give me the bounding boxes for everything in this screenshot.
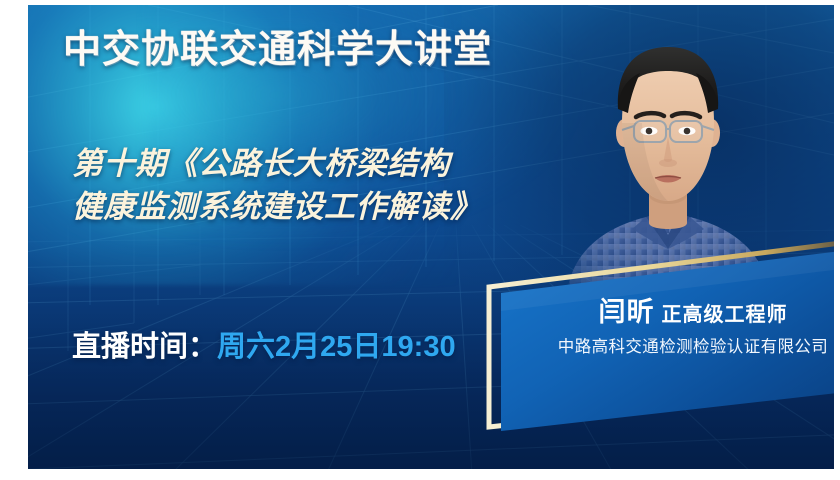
speaker-name: 闫昕 (599, 297, 655, 327)
speaker-name-row: 闫昕正高级工程师 (525, 299, 834, 326)
subtitle-line-1: 第十期《公路长大桥梁结构 (72, 146, 450, 181)
speaker-info: 闫昕正高级工程师 中路高科交通检测检验认证有限公司 (525, 299, 834, 356)
speaker-panel: 闫昕正高级工程师 中路高科交通检测检验认证有限公司 (483, 253, 834, 433)
live-time: 直播时间：周六2月25日19:30 (72, 333, 456, 362)
poster-root: 中交协联交通科学大讲堂 第十期《公路长大桥梁结构 健康监测系统建设工作解读》 直… (0, 0, 840, 480)
speaker-organization: 中路高科交通检测检验认证有限公司 (525, 339, 834, 356)
speaker-role: 正高级工程师 (662, 304, 788, 326)
live-time-value: 周六2月25日19:30 (217, 331, 456, 363)
subtitle-line-2: 健康监测系统建设工作解读》 (72, 186, 592, 229)
page-title: 中交协联交通科学大讲堂 (63, 31, 492, 69)
live-time-label: 直播时间： (72, 331, 217, 363)
episode-subtitle: 第十期《公路长大桥梁结构 健康监测系统建设工作解读》 (72, 143, 592, 229)
poster-canvas: 中交协联交通科学大讲堂 第十期《公路长大桥梁结构 健康监测系统建设工作解读》 直… (28, 5, 834, 469)
